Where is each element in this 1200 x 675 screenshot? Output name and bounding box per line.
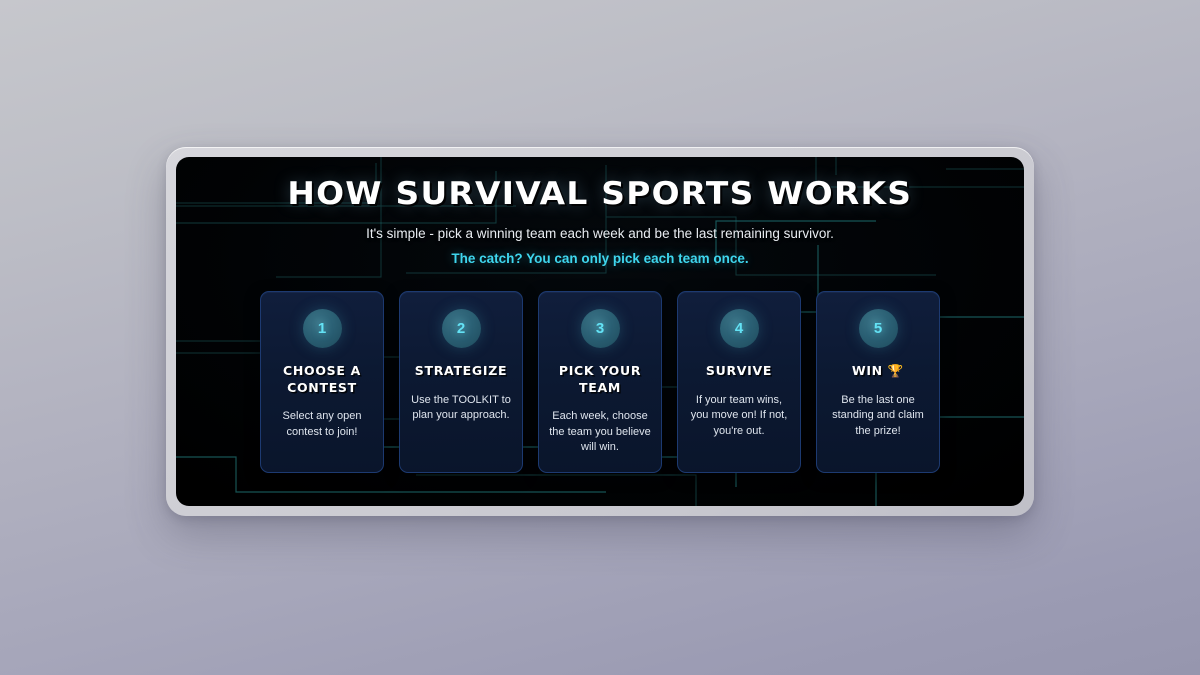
step-number-badge: 1 [303,309,342,348]
step-number-badge: 5 [859,309,898,348]
step-title: CHOOSE A CONTEST [271,363,373,396]
page-title: HOW SURVIVAL SPORTS WORKS [288,179,913,210]
step-title: PICK YOUR TEAM [549,363,651,396]
page-content: HOW SURVIVAL SPORTS WORKS It's simple - … [176,157,1024,506]
hero-catch-line: The catch? You can only pick each team o… [451,251,748,266]
step-description: If your team wins, you move on! If not, … [688,393,790,440]
steps-list: 1 CHOOSE A CONTEST Select any open conte… [260,291,940,473]
device-frame: HOW SURVIVAL SPORTS WORKS It's simple - … [166,147,1034,516]
trophy-icon: 🏆 [888,363,904,378]
step-number-badge: 3 [581,309,620,348]
step-title: STRATEGIZE [415,363,507,380]
step-card-2[interactable]: 2 STRATEGIZE Use the TOOLKIT to plan you… [399,291,523,473]
step-description: Select any open contest to join! [271,409,373,440]
step-card-1[interactable]: 1 CHOOSE A CONTEST Select any open conte… [260,291,384,473]
step-card-5[interactable]: 5 WIN 🏆 Be the last one standing and cla… [816,291,940,473]
screen: HOW SURVIVAL SPORTS WORKS It's simple - … [176,157,1024,506]
step-card-4[interactable]: 4 SURVIVE If your team wins, you move on… [677,291,801,473]
step-card-3[interactable]: 3 PICK YOUR TEAM Each week, choose the t… [538,291,662,473]
hero-subhead: It's simple - pick a winning team each w… [366,225,834,243]
step-number-badge: 4 [720,309,759,348]
step-description: Be the last one standing and claim the p… [827,393,929,440]
step-title: SURVIVE [706,363,772,380]
step-title-text: WIN [852,363,883,378]
step-description: Each week, choose the team you believe w… [549,409,651,456]
step-number-badge: 2 [442,309,481,348]
step-description: Use the TOOLKIT to plan your approach. [410,393,512,424]
step-title: WIN 🏆 [852,363,904,380]
